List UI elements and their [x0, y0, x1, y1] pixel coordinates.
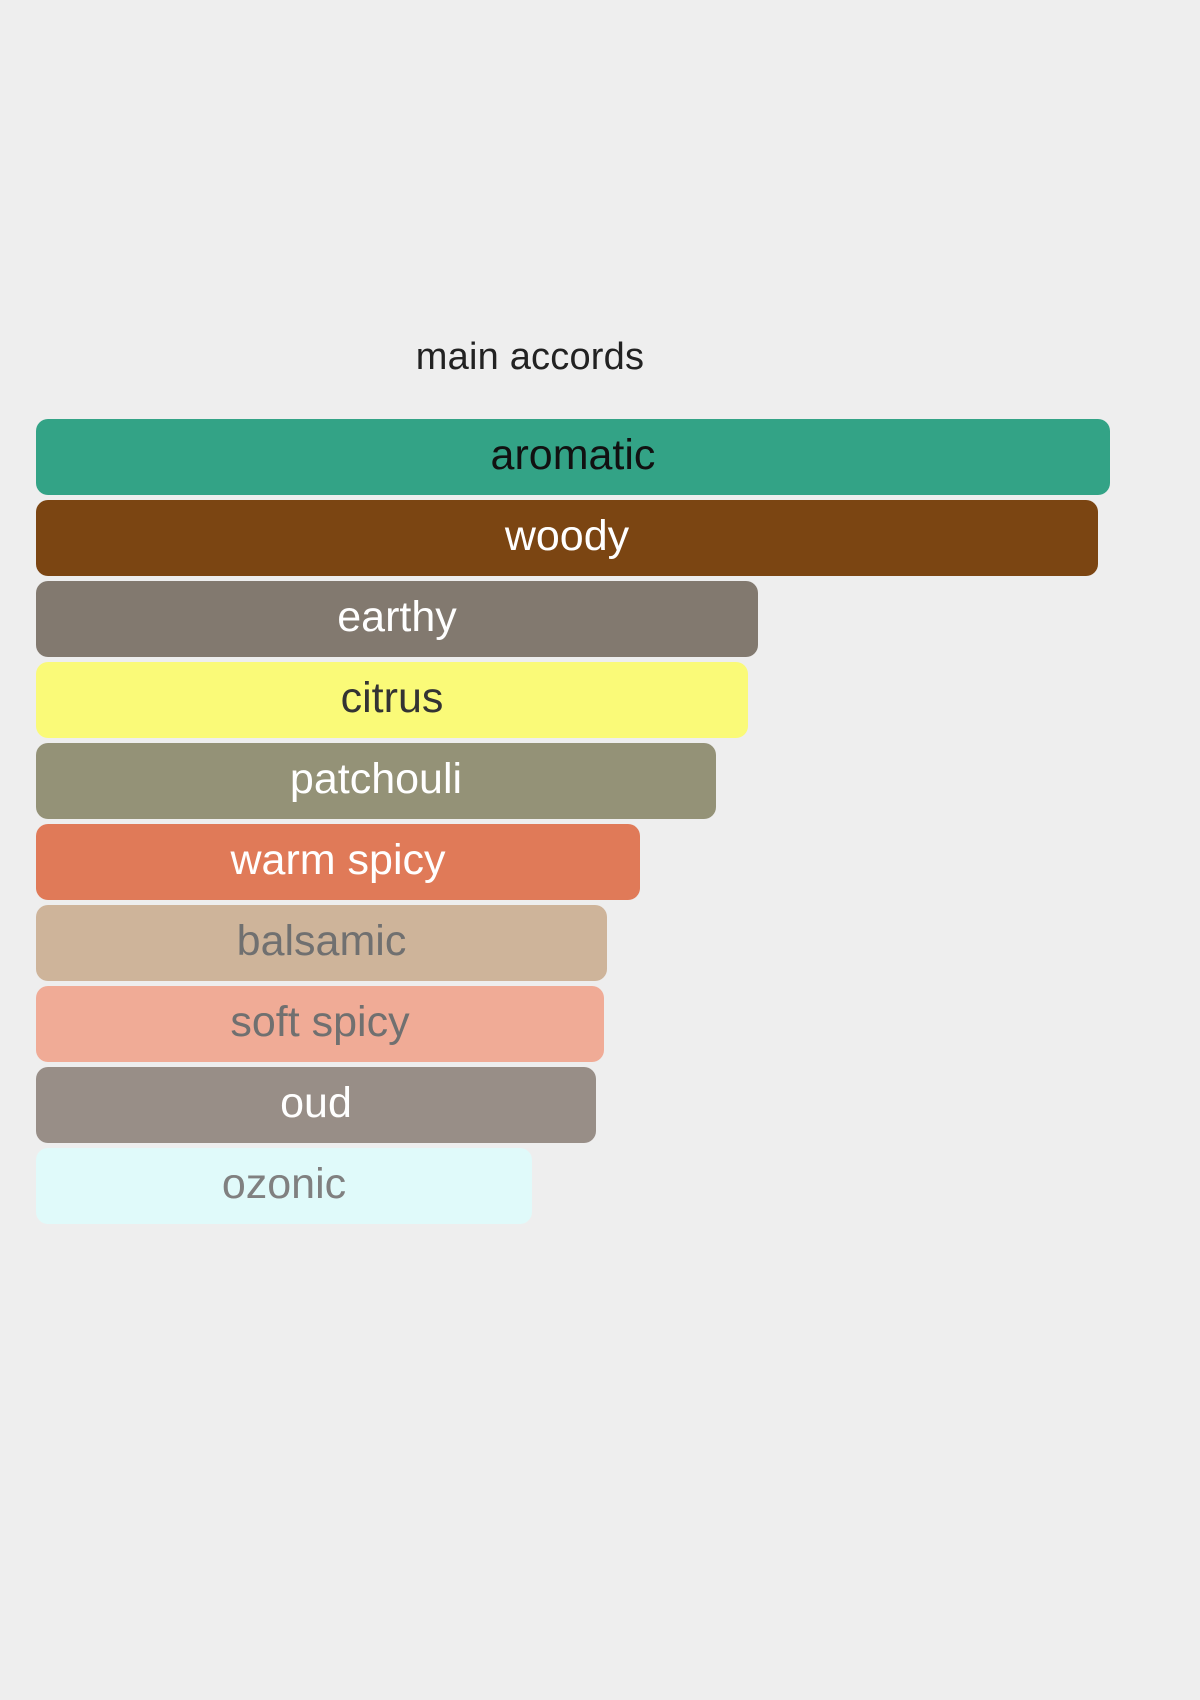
accord-bar-label: citrus — [341, 677, 444, 723]
bar-row: earthy — [36, 581, 1156, 657]
bar-row: citrus — [36, 662, 1156, 738]
accord-bar[interactable]: balsamic — [36, 905, 607, 981]
bar-row: aromatic — [36, 419, 1156, 495]
accord-bar[interactable]: earthy — [36, 581, 758, 657]
bar-row: oud — [36, 1067, 1156, 1143]
accord-bar-label: patchouli — [290, 758, 462, 804]
accord-bar-label: woody — [505, 515, 629, 561]
chart-title: main accords — [0, 336, 1060, 379]
accord-bar-label: aromatic — [491, 434, 656, 480]
bar-row: soft spicy — [36, 986, 1156, 1062]
accord-bar[interactable]: ozonic — [36, 1148, 532, 1224]
bar-row: patchouli — [36, 743, 1156, 819]
accord-bar-label: oud — [280, 1082, 352, 1128]
accord-bar[interactable]: aromatic — [36, 419, 1110, 495]
accord-bar-label: balsamic — [237, 920, 407, 966]
accord-bar-label: ozonic — [222, 1163, 346, 1209]
bar-row: balsamic — [36, 905, 1156, 981]
accord-bar-label: warm spicy — [230, 839, 445, 885]
main-accords-chart: main accords aromaticwoodyearthycitruspa… — [0, 0, 1200, 1700]
accord-bar[interactable]: woody — [36, 500, 1098, 576]
bar-row: warm spicy — [36, 824, 1156, 900]
accord-bar-label: earthy — [337, 596, 457, 642]
accord-bar[interactable]: citrus — [36, 662, 748, 738]
bar-row: ozonic — [36, 1148, 1156, 1224]
accord-bar[interactable]: oud — [36, 1067, 596, 1143]
bar-row: woody — [36, 500, 1156, 576]
bar-list: aromaticwoodyearthycitruspatchouliwarm s… — [36, 419, 1156, 1229]
accord-bar[interactable]: soft spicy — [36, 986, 604, 1062]
accord-bar-label: soft spicy — [230, 1001, 409, 1047]
accord-bar[interactable]: patchouli — [36, 743, 716, 819]
accord-bar[interactable]: warm spicy — [36, 824, 640, 900]
